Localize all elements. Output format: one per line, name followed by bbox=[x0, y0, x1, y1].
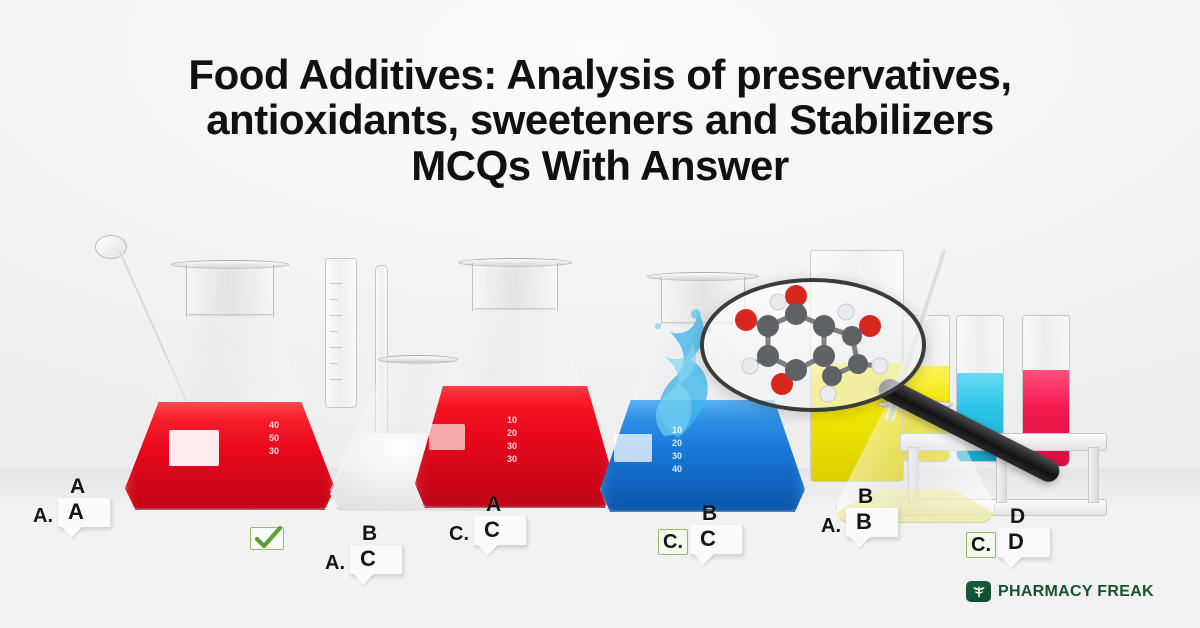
flask-neck bbox=[186, 265, 274, 317]
poster-canvas: 40 50 30 bbox=[0, 0, 1200, 628]
answer-bubble: B C bbox=[350, 545, 403, 575]
answer-secondary-letter: D bbox=[1010, 506, 1025, 527]
answer-prefix: A. bbox=[30, 504, 56, 528]
flask-label-sticker bbox=[429, 424, 465, 450]
answer-letter: C bbox=[360, 547, 390, 570]
answer-letter: B bbox=[856, 510, 886, 533]
answer-prefix: A. bbox=[322, 551, 348, 575]
answer-prefix: A. bbox=[818, 514, 844, 538]
answer-prefix: C. bbox=[966, 532, 996, 558]
answer-callout[interactable]: C. A C bbox=[446, 516, 527, 546]
answer-secondary-letter: B bbox=[702, 503, 717, 524]
answer-bubble: B C bbox=[690, 525, 743, 555]
brand-logo[interactable]: PHARMACY FREAK bbox=[966, 581, 1154, 602]
flask-graduation-marks: 10 20 30 40 bbox=[672, 424, 682, 476]
answer-callout-correct[interactable]: C. B C bbox=[658, 525, 743, 555]
flask-cone bbox=[415, 308, 615, 508]
answer-letter: D bbox=[1008, 530, 1038, 553]
flask-red-center: 10 20 30 30 bbox=[415, 258, 615, 508]
flask-cone bbox=[125, 314, 335, 510]
flask-label-sticker bbox=[169, 430, 219, 466]
answer-callout[interactable]: A. B C bbox=[322, 545, 403, 575]
brand-name: PHARMACY FREAK bbox=[998, 583, 1154, 601]
answer-secondary-letter: B bbox=[858, 486, 873, 507]
answer-secondary-letter: A bbox=[70, 476, 85, 497]
correct-answer-checkbox bbox=[250, 527, 284, 550]
answer-callout-correct[interactable]: C. D D bbox=[966, 528, 1051, 558]
answer-secondary-letter: A bbox=[486, 494, 501, 515]
answer-secondary-letter: B bbox=[362, 523, 377, 544]
answer-bubble: D D bbox=[998, 528, 1051, 558]
answer-prefix: C. bbox=[446, 522, 472, 546]
answer-letter: C bbox=[484, 518, 514, 541]
magnifier bbox=[700, 278, 1030, 428]
flask-neck bbox=[472, 263, 558, 311]
flask-label-sticker bbox=[614, 434, 652, 462]
answer-letter: A bbox=[68, 500, 98, 523]
answer-callout[interactable]: A. A A bbox=[30, 498, 111, 528]
answer-callout[interactable]: A. B B bbox=[818, 508, 899, 538]
magnifier-lens bbox=[700, 278, 926, 412]
answer-letter: C bbox=[700, 527, 730, 550]
check-icon bbox=[253, 525, 283, 551]
answer-bubble: B B bbox=[846, 508, 899, 538]
flask-graduation-marks: 40 50 30 bbox=[269, 419, 279, 458]
answer-bubble: A C bbox=[474, 516, 527, 546]
leaf-icon bbox=[966, 581, 991, 602]
answer-prefix: C. bbox=[658, 529, 688, 555]
rack-leg bbox=[1088, 447, 1099, 503]
page-title: Food Additives: Analysis of preservative… bbox=[0, 52, 1200, 188]
molecule-model bbox=[704, 282, 922, 408]
flask-graduation-marks: 10 20 30 30 bbox=[507, 414, 517, 466]
flask-red-left: 40 50 30 bbox=[125, 260, 335, 510]
answer-bubble: A A bbox=[58, 498, 111, 528]
